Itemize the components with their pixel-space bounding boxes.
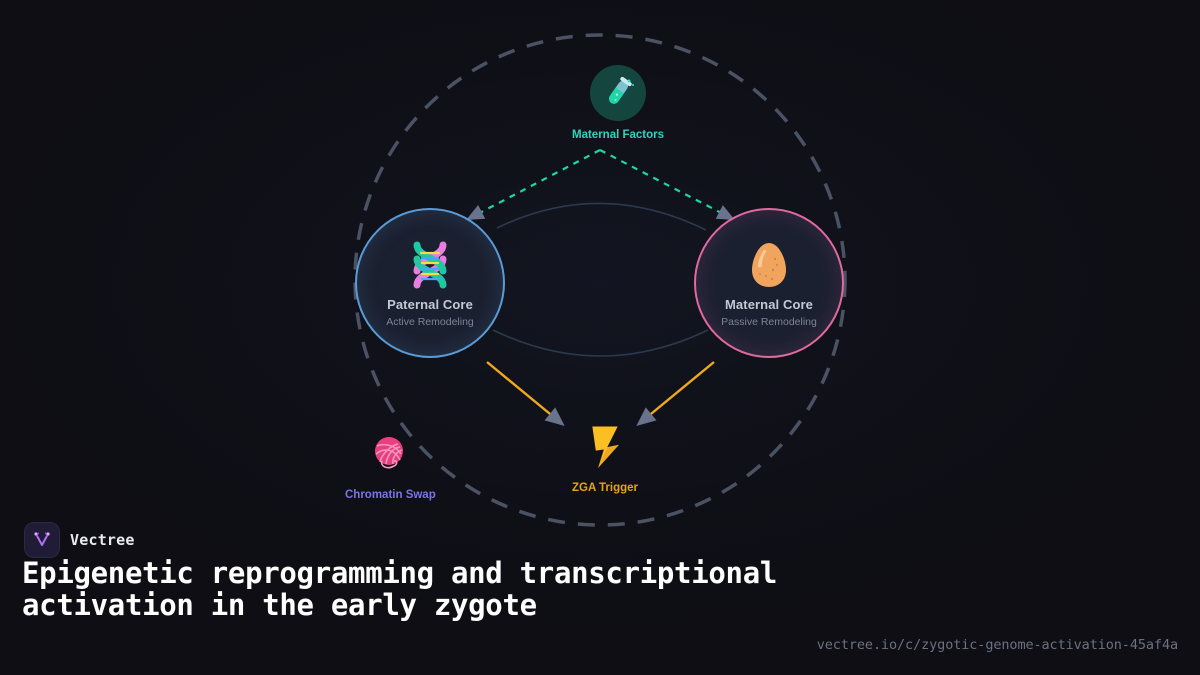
node-paternal-core[interactable]: Paternal Core Active Remodeling [355, 208, 505, 358]
paternal-core-circle: Paternal Core Active Remodeling [355, 208, 505, 358]
paternal-core-label: Paternal Core [387, 297, 473, 312]
footer: Vectree Epigenetic reprogramming and tra… [0, 510, 1200, 675]
brand: Vectree [24, 522, 135, 558]
diagram-canvas: Maternal Factors [0, 0, 1200, 675]
yarn-ball-icon [370, 433, 410, 473]
brand-name: Vectree [70, 531, 135, 549]
maternal-factors-label: Maternal Factors [572, 129, 664, 141]
zga-trigger-chip [577, 418, 633, 474]
chromatin-swap-label: Chromatin Swap [345, 489, 436, 501]
node-zga-trigger[interactable]: ZGA Trigger [572, 418, 638, 494]
zga-trigger-label: ZGA Trigger [572, 482, 638, 494]
vectree-logo-icon [24, 522, 60, 558]
paternal-core-sublabel: Active Remodeling [386, 316, 474, 328]
egg-icon [743, 239, 795, 291]
test-tube-icon [598, 73, 638, 113]
page-title: Epigenetic reprogramming and transcripti… [22, 558, 782, 622]
node-maternal-core[interactable]: Maternal Core Passive Remodeling [694, 208, 844, 358]
maternal-core-circle: Maternal Core Passive Remodeling [694, 208, 844, 358]
dna-icon [404, 239, 456, 291]
maternal-core-label: Maternal Core [725, 297, 813, 312]
maternal-factors-chip [590, 65, 646, 121]
node-chromatin-swap[interactable]: Chromatin Swap [345, 425, 436, 501]
maternal-core-sublabel: Passive Remodeling [721, 316, 817, 328]
chromatin-swap-chip [362, 425, 418, 481]
page-url: vectree.io/c/zygotic-genome-activation-4… [817, 637, 1178, 653]
lightning-bolt-icon [582, 423, 628, 469]
node-maternal-factors[interactable]: Maternal Factors [572, 65, 664, 141]
